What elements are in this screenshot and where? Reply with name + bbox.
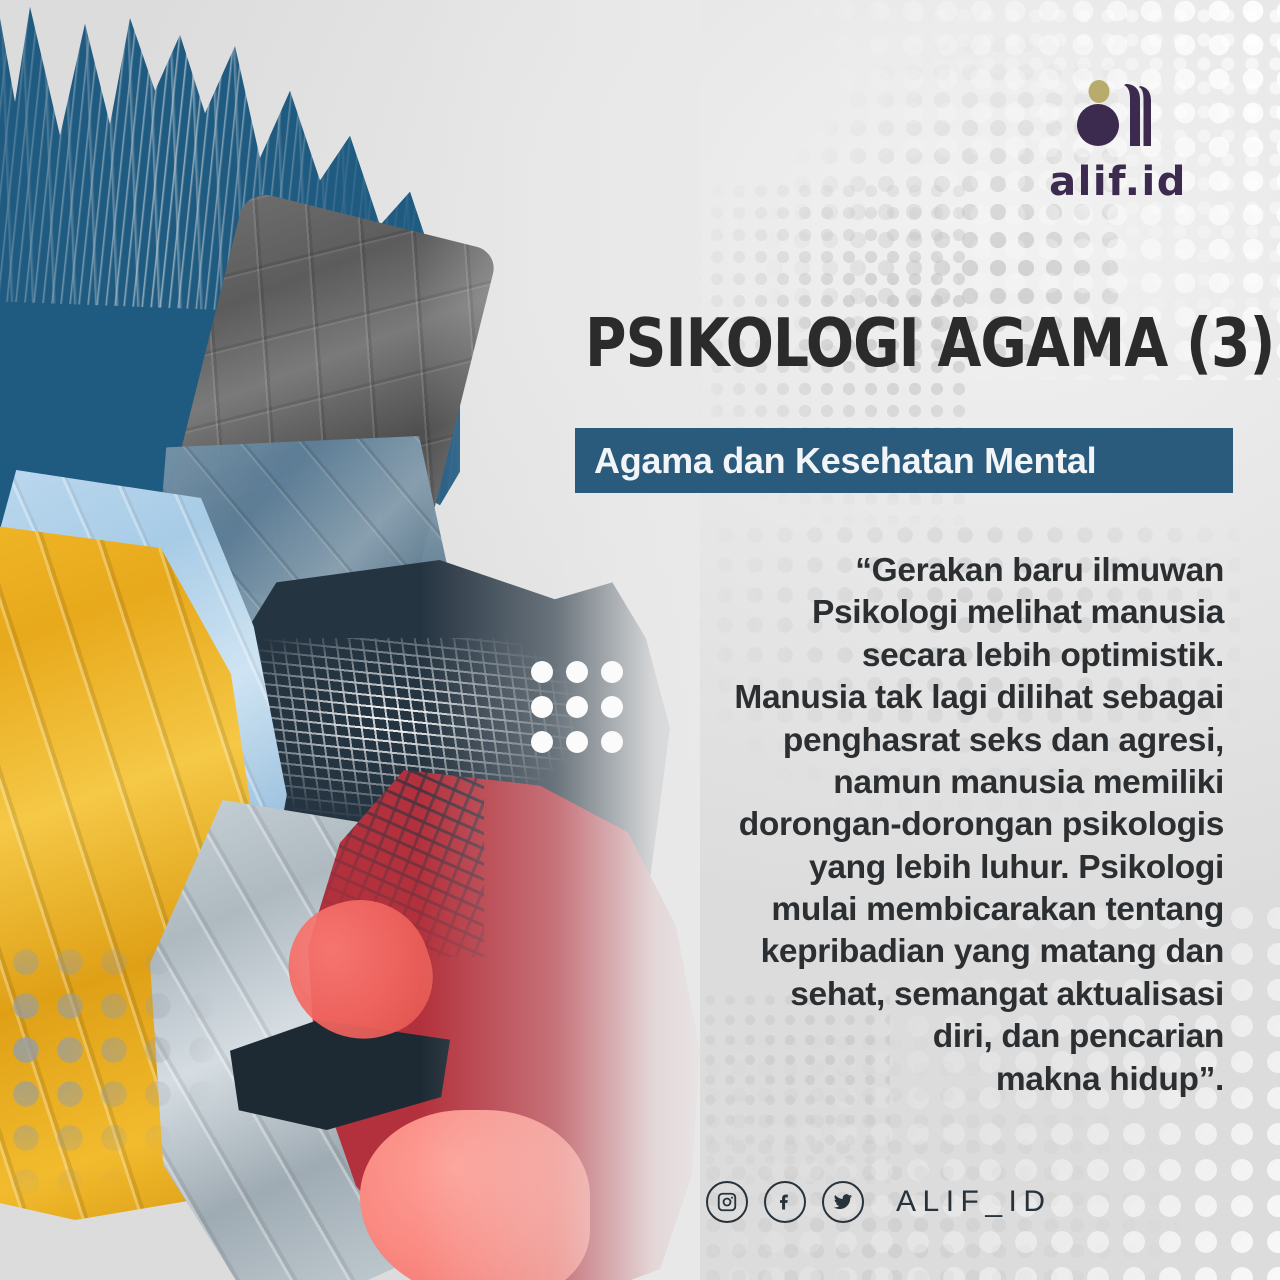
quote-line: mulai membicarakan tentang [654,889,1224,931]
quote-line: secara lebih optimistik. [654,635,1224,677]
quote-line: makna hidup”. [654,1059,1224,1101]
page-title: PSIKOLOGI AGAMA (3) [585,310,1201,377]
quote-line: namun manusia memiliki [654,762,1224,804]
quote-body: “Gerakan baru ilmuwan Psikologi melihat … [654,550,1224,1101]
quote-line: sehat, semangat aktualisasi [654,974,1224,1016]
quote-line: “Gerakan baru ilmuwan [654,550,1224,592]
poster-canvas: alif.id PSIKOLOGI AGAMA (3) Agama dan Ke… [0,0,1280,1280]
brand-wordmark: alif.id [1028,162,1208,202]
white-dot-grid-accent [531,661,623,753]
quote-line: Psikologi melihat manusia [654,592,1224,634]
subtitle-banner: Agama dan Kesehatan Mental [575,428,1233,493]
quote-line: diri, dan pencarian [654,1016,1224,1058]
subtitle-text: Agama dan Kesehatan Mental [575,440,1096,482]
quote-line: dorongan-dorongan psikologis [654,804,1224,846]
salmon-paper-lower [360,1110,590,1280]
artwork-collage [0,0,700,1280]
quote-line: kepribadian yang matang dan [654,931,1224,973]
brand-logo[interactable]: alif.id [1028,78,1208,202]
social-handle: ALIF_ID [896,1185,1052,1219]
quote-line: yang lebih luhur. Psikologi [654,847,1224,889]
twitter-icon[interactable] [822,1181,864,1223]
social-footer: ALIF_ID [706,1181,1052,1223]
alif-logo-mark-icon [1028,78,1208,150]
facebook-icon[interactable] [764,1181,806,1223]
instagram-icon[interactable] [706,1181,748,1223]
quote-line: Manusia tak lagi dilihat sebagai [654,677,1224,719]
quote-line: penghasrat seks dan agresi, [654,720,1224,762]
